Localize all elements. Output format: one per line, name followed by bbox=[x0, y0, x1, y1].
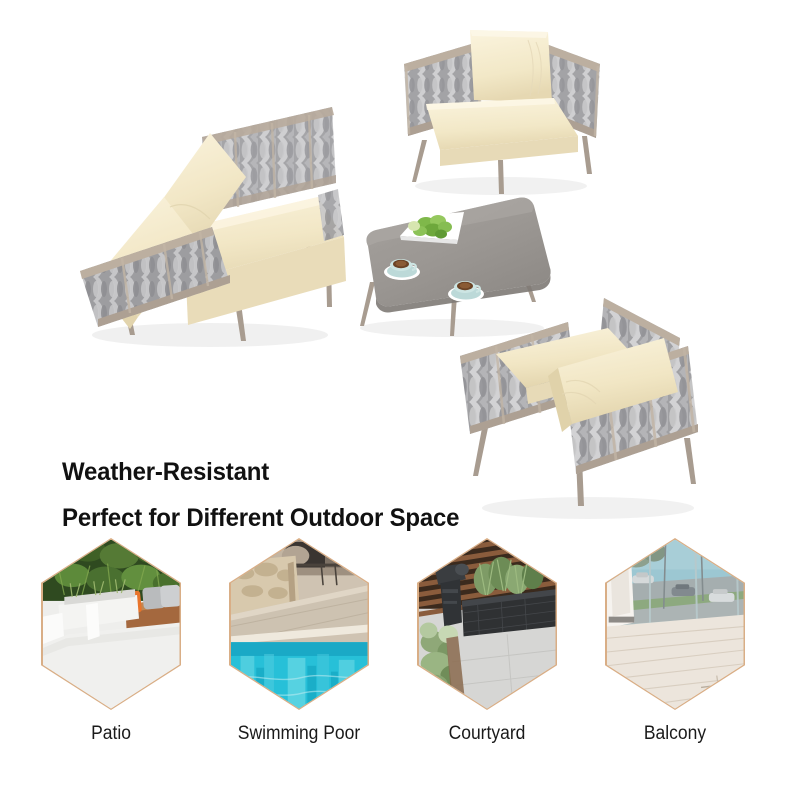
space-card-balcony[interactable]: Balcony bbox=[582, 538, 768, 745]
armchair-front-back-pillow bbox=[470, 30, 552, 102]
hex-frame-courtyard bbox=[417, 538, 557, 710]
hex-image-balcony bbox=[607, 540, 744, 709]
product-loveseat bbox=[60, 85, 360, 350]
hex-image-patio bbox=[43, 540, 180, 709]
product-marketing-image: Weather-Resistant Perfect for Different … bbox=[0, 0, 800, 800]
headline-weather-resistant: Weather-Resistant bbox=[62, 455, 676, 489]
space-label-patio: Patio bbox=[25, 723, 196, 745]
loveseat-shadow bbox=[92, 323, 328, 347]
outdoor-space-gallery: Patio bbox=[0, 538, 800, 788]
headline-group: Weather-Resistant Perfect for Different … bbox=[62, 455, 702, 535]
product-armchair-front bbox=[386, 8, 616, 198]
hex-frame-patio bbox=[41, 538, 181, 710]
hex-image-courtyard bbox=[419, 540, 556, 709]
hex-image-swimming-pool bbox=[231, 540, 368, 709]
space-card-courtyard[interactable]: Courtyard bbox=[394, 538, 580, 745]
space-label-courtyard: Courtyard bbox=[401, 723, 572, 745]
space-label-swimming-pool: Swimming Poor bbox=[213, 723, 384, 745]
space-label-balcony: Balcony bbox=[589, 723, 760, 745]
space-card-swimming-pool[interactable]: Swimming Poor bbox=[206, 538, 392, 745]
space-card-patio[interactable]: Patio bbox=[18, 538, 204, 745]
headline-outdoor-space: Perfect for Different Outdoor Space bbox=[62, 501, 676, 535]
hex-frame-balcony bbox=[605, 538, 745, 710]
fruit-plate bbox=[400, 212, 464, 244]
hex-frame-swimming-pool bbox=[229, 538, 369, 710]
